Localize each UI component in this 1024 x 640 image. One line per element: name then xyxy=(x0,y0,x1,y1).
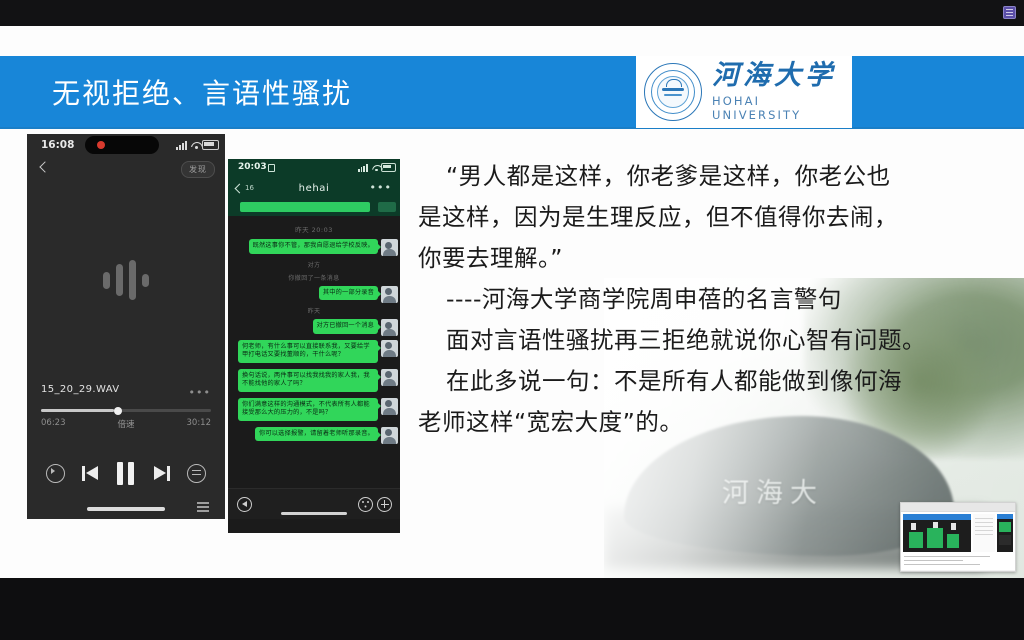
avatar xyxy=(381,286,398,303)
voice-icon[interactable] xyxy=(237,497,252,512)
pause-icon[interactable] xyxy=(117,462,134,485)
chat-input-bar[interactable] xyxy=(228,488,400,519)
audio-more-button[interactable]: ••• xyxy=(189,386,211,399)
audio-controls xyxy=(27,452,225,494)
battery-icon xyxy=(202,140,219,150)
chat-bubble[interactable]: 你可以选择报警，请留着老师听那录音。 xyxy=(255,427,378,442)
audio-artwork-area xyxy=(27,184,225,384)
chat-more-button[interactable]: ••• xyxy=(370,181,392,194)
chat-bubble[interactable]: 对方已撤回一个消息 xyxy=(313,319,379,334)
chat-status-time: 20:03 xyxy=(238,162,267,172)
chat-nav-bar: 16 hehai ••• xyxy=(228,177,400,201)
wifi-icon xyxy=(191,141,201,149)
slide-text-block: “男人都是这样，你老爹是这样，你老公也 是这样，因为是生理反应，但不值得你去闹，… xyxy=(418,156,984,443)
pip-slide-area xyxy=(903,514,971,552)
emoji-icon[interactable] xyxy=(358,497,373,512)
playlist-icon[interactable] xyxy=(187,464,206,483)
audio-status-bar: 16:08 xyxy=(27,134,225,158)
audio-current-time: 06:23 xyxy=(41,418,66,428)
chat-system-note: 你撤回了一条消息 xyxy=(228,273,400,282)
chat-message-row[interactable]: 何老师，有什么事可以直接联系我，又要给学甲打电话又要找董顺的，干什么呢？ xyxy=(228,340,400,363)
audio-time-row: 06:23 倍速 30:12 xyxy=(41,418,211,430)
avatar xyxy=(381,319,398,336)
next-track-icon[interactable] xyxy=(152,466,170,481)
slide-text-line: 在此多说一句：不是所有人都能做到像何海 xyxy=(418,361,984,402)
chat-message-row[interactable]: 换句话说，两件事可以找我找我的家人我，我不能找他的家人了吗？ xyxy=(228,369,400,392)
avatar xyxy=(381,369,398,386)
audio-speed-label[interactable]: 倍速 xyxy=(117,418,134,430)
back-chevron-icon[interactable] xyxy=(39,161,50,172)
meeting-screen: 河海大 无视拒绝、言语性骚扰 河海大学 HOHAI UNIVERSITY “男人… xyxy=(0,0,1024,640)
discover-pill-button[interactable]: 发现 xyxy=(181,161,215,178)
slide-attribution-line: ----河海大学商学院周申蓓的名言警句 xyxy=(418,279,984,320)
chat-bubble[interactable]: 换句话说，两件事可以找我找我的家人我，我不能找他的家人了吗？ xyxy=(238,369,378,392)
audio-progress-slider[interactable] xyxy=(41,409,211,412)
page-title: 无视拒绝、言语性骚扰 xyxy=(52,56,352,128)
slide-canvas: 河海大 无视拒绝、言语性骚扰 河海大学 HOHAI UNIVERSITY “男人… xyxy=(0,26,1024,578)
avatar xyxy=(381,398,398,415)
audio-meta: 15_20_29.WAV ••• 06:23 倍速 30:12 xyxy=(27,384,225,430)
chat-bubble[interactable]: 其中的一部分录音 xyxy=(319,286,378,301)
chat-message-row[interactable]: 既然这事你不管，那我自愿退给学校反映。 xyxy=(228,239,400,254)
bottom-bar xyxy=(0,578,1024,640)
battery-icon xyxy=(381,163,396,172)
chat-system-note: 对方 xyxy=(228,260,400,269)
slide-text-line: 是这样，因为是生理反应，但不值得你去闹， xyxy=(418,197,984,238)
audio-file-name: 15_20_29.WAV xyxy=(41,384,211,395)
previous-track-icon[interactable] xyxy=(82,466,100,481)
pip-content xyxy=(901,512,1015,554)
chat-message-row[interactable]: 你们满意这样的沟通模式，不代表所有人都能接受那么大的压力的，不是吗？ xyxy=(228,398,400,421)
chat-message-row[interactable]: 对方已撤回一个消息 xyxy=(228,319,400,334)
top-bar xyxy=(0,0,1024,26)
lock-icon xyxy=(268,164,275,172)
pip-caption-area xyxy=(901,554,1015,570)
audio-progress-fill xyxy=(41,409,114,412)
chat-highlight-bar xyxy=(228,201,400,216)
chat-message-row[interactable]: 你可以选择报警，请留着老师听那录音。 xyxy=(228,427,400,442)
rewind-15-icon[interactable] xyxy=(46,464,65,483)
slide-text-line: 你要去理解。” xyxy=(418,238,984,279)
chat-bubble[interactable]: 你们满意这样的沟通模式，不代表所有人都能接受那么大的压力的，不是吗？ xyxy=(238,398,378,421)
hohai-logo: 河海大学 HOHAI UNIVERSITY xyxy=(636,56,852,128)
screen-share-thumbnail[interactable] xyxy=(900,502,1016,572)
chat-system-note: 昨天 xyxy=(228,306,400,315)
pip-titlebar xyxy=(901,503,1015,512)
slide-text-line: 面对言语性骚扰再三拒绝就说你心智有问题。 xyxy=(418,320,984,361)
avatar xyxy=(381,239,398,256)
chat-day-stamp: 昨天 20:03 xyxy=(228,224,400,234)
audio-progress-knob[interactable] xyxy=(114,407,122,415)
record-dot-icon xyxy=(97,141,105,149)
logo-name-cn: 河海大学 xyxy=(712,62,852,91)
chat-bubble[interactable]: 何老师，有什么事可以直接联系我，又要给学甲打电话又要找董顺的，干什么呢？ xyxy=(238,340,378,363)
wifi-icon xyxy=(372,164,381,171)
chat-message-list[interactable]: 昨天 20:03 既然这事你不管，那我自愿退给学校反映。 对方 你撤回了一条消息… xyxy=(228,216,400,488)
audio-duration: 30:12 xyxy=(187,418,212,428)
app-icon[interactable] xyxy=(1003,6,1016,19)
chat-message-row[interactable]: 其中的一部分录音 xyxy=(228,286,400,301)
wechat-screenshot: 20:03 16 hehai ••• 昨天 20:03 既然这事你不管，那我自愿… xyxy=(228,159,400,533)
signal-bars-icon xyxy=(358,164,368,172)
chat-bubble[interactable]: 既然这事你不管，那我自愿退给学校反映。 xyxy=(249,239,378,254)
pip-sidebar xyxy=(973,514,995,552)
signal-bars-icon xyxy=(176,141,187,150)
slide-text-line: 老师这样“宽宏大度”的。 xyxy=(418,402,984,443)
audio-player-screenshot: 16:08 发现 15_20_29.WAV ••• xyxy=(27,134,225,519)
avatar xyxy=(381,427,398,444)
home-indicator xyxy=(87,507,165,511)
waveform-bars-icon xyxy=(103,260,149,300)
pip-participants xyxy=(997,514,1013,552)
avatar xyxy=(381,340,398,357)
audio-nav-bar: 发现 xyxy=(27,158,225,184)
hohai-seal-icon xyxy=(644,63,702,121)
audio-status-time: 16:08 xyxy=(41,139,74,151)
home-indicator xyxy=(281,512,347,515)
plus-icon[interactable] xyxy=(377,497,392,512)
chat-status-bar: 20:03 xyxy=(228,159,400,177)
slide-text-line: “男人都是这样，你老爹是这样，你老公也 xyxy=(418,156,984,197)
logo-name-en: HOHAI UNIVERSITY xyxy=(712,94,852,122)
